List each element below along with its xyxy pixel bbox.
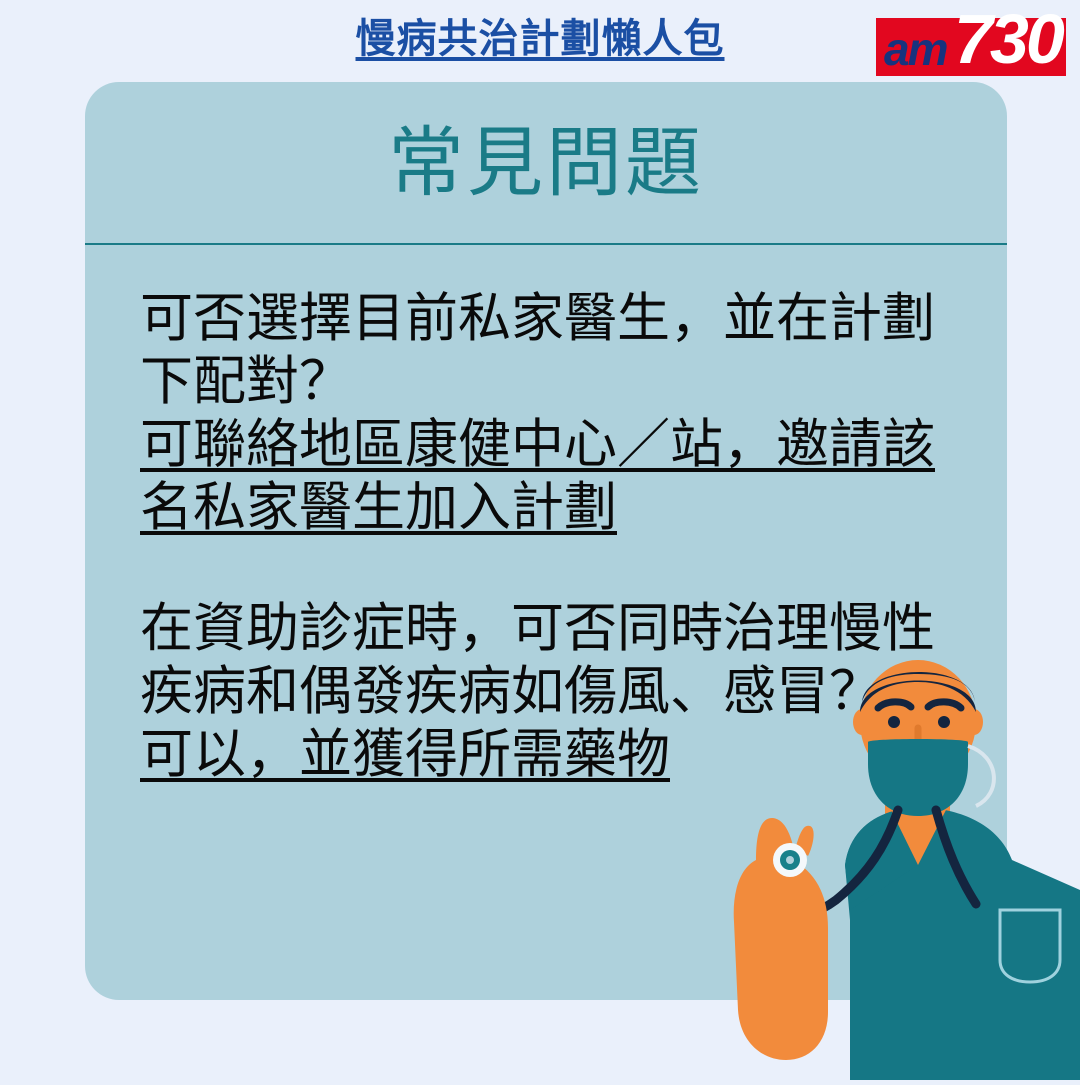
faq-question: 可否選擇目前私家醫生，並在計劃下配對？: [140, 287, 980, 413]
faq-item: 可否選擇目前私家醫生，並在計劃下配對？ 可聯絡地區康健中心／站，邀請該名私家醫生…: [140, 287, 980, 539]
logo-am-text: am: [884, 26, 946, 72]
am730-logo: am 730: [876, 4, 1066, 76]
logo-730-text: 730: [954, 4, 1062, 74]
card-title: 常見問題: [85, 118, 1007, 210]
faq-list: 可否選擇目前私家醫生，並在計劃下配對？ 可聯絡地區康健中心／站，邀請該名私家醫生…: [140, 287, 980, 844]
faq-answer: 可聯絡地區康健中心／站，邀請該名私家醫生加入計劃: [140, 413, 980, 539]
card-divider: [85, 243, 1007, 245]
doctor-chest-pocket: [1000, 910, 1060, 982]
page-header: 慢病共治計劃懶人包 am 730: [0, 0, 1080, 82]
faq-question: 在資助診症時，可否同時治理慢性疾病和偶發疾病如傷風、感冒？: [140, 597, 980, 723]
faq-answer: 可以，並獲得所需藥物: [140, 723, 980, 786]
faq-card: 常見問題 可否選擇目前私家醫生，並在計劃下配對？ 可聯絡地區康健中心／站，邀請該…: [85, 82, 1007, 1000]
faq-item: 在資助診症時，可否同時治理慢性疾病和偶發疾病如傷風、感冒？ 可以，並獲得所需藥物: [140, 597, 980, 786]
